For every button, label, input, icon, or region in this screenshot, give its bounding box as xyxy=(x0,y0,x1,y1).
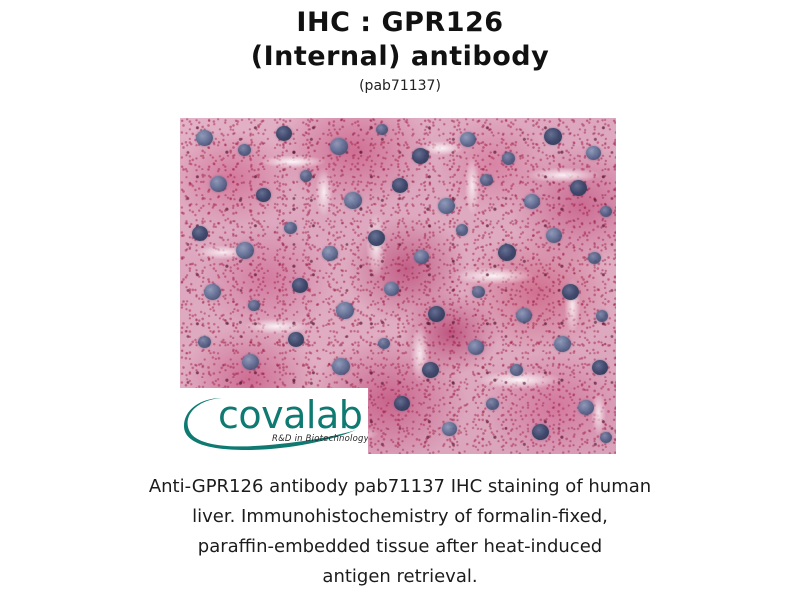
cell-nucleus xyxy=(516,308,532,323)
cell-nucleus xyxy=(368,230,385,246)
cell-nucleus xyxy=(428,306,445,322)
catalog-number: (pab71137) xyxy=(0,76,800,96)
caption-line: liver. Immunohistochemistry of formalin-… xyxy=(0,502,800,532)
cell-nucleus xyxy=(456,224,468,236)
cell-nucleus xyxy=(414,250,429,264)
covalab-logo: covalab R&D in Biotechnology xyxy=(180,388,368,454)
cell-nucleus xyxy=(284,222,297,234)
cell-nucleus xyxy=(204,284,221,300)
cell-nucleus xyxy=(288,332,304,347)
cell-nucleus xyxy=(210,176,227,192)
cell-nucleus xyxy=(198,336,211,348)
page-title-line-1: IHC : GPR126 xyxy=(0,6,800,40)
cell-nucleus xyxy=(480,174,493,186)
cell-nucleus xyxy=(472,286,485,298)
figure-title-block: IHC : GPR126 (Internal) antibody (pab711… xyxy=(0,0,800,96)
cell-nucleus xyxy=(392,178,408,193)
cell-nucleus xyxy=(486,398,499,410)
cell-nucleus xyxy=(330,138,348,155)
cell-nucleus xyxy=(592,360,608,375)
cell-nucleus xyxy=(336,302,354,319)
ihc-figure-page: { "figure": { "title_line_1": "IHC : GPR… xyxy=(0,0,800,600)
cell-nucleus xyxy=(554,336,571,352)
cell-nucleus xyxy=(600,206,612,217)
cell-nucleus xyxy=(384,282,399,296)
cell-nucleus xyxy=(578,400,594,415)
cell-nucleus xyxy=(322,246,338,261)
cell-nucleus xyxy=(248,300,260,311)
cell-nucleus xyxy=(588,252,601,264)
cell-nucleus xyxy=(412,148,429,164)
cell-nucleus xyxy=(192,226,208,241)
figure-caption: Anti-GPR126 antibody pab71137 IHC staini… xyxy=(0,472,800,592)
cell-nucleus xyxy=(422,362,439,378)
cell-nucleus xyxy=(378,338,390,349)
cell-nucleus xyxy=(596,310,608,322)
cell-nucleus xyxy=(332,358,350,375)
page-title-line-2: (Internal) antibody xyxy=(0,40,800,74)
caption-line: Anti-GPR126 antibody pab71137 IHC staini… xyxy=(0,472,800,502)
cell-nucleus xyxy=(600,432,612,443)
cell-nucleus xyxy=(532,424,549,440)
cell-nucleus xyxy=(236,242,254,259)
micrograph-image: covalab R&D in Biotechnology xyxy=(180,118,616,454)
cell-nucleus xyxy=(498,244,516,261)
cell-nucleus xyxy=(442,422,457,436)
cell-nucleus xyxy=(544,128,562,145)
caption-line: paraffin-embedded tissue after heat-indu… xyxy=(0,532,800,562)
caption-line: antigen retrieval. xyxy=(0,562,800,592)
cell-nucleus xyxy=(376,124,388,135)
cell-nucleus xyxy=(570,180,587,196)
cell-nucleus xyxy=(546,228,562,243)
cell-nucleus xyxy=(524,194,540,209)
cell-nucleus xyxy=(562,284,579,300)
cell-nucleus xyxy=(300,170,312,182)
cell-nucleus xyxy=(344,192,362,209)
cell-nucleus xyxy=(510,364,523,376)
cell-nucleus xyxy=(468,340,484,355)
cell-nucleus xyxy=(256,188,271,202)
cell-nucleus xyxy=(242,354,259,370)
cell-nucleus xyxy=(276,126,292,141)
cell-nucleus xyxy=(394,396,410,411)
cell-nucleus xyxy=(292,278,308,293)
covalab-tagline: R&D in Biotechnology xyxy=(272,434,368,444)
cell-nucleus xyxy=(502,152,515,165)
cell-nucleus xyxy=(238,144,251,156)
cell-nucleus xyxy=(586,146,601,160)
cell-nucleus xyxy=(460,132,476,147)
cell-nucleus xyxy=(196,130,213,146)
cell-nucleus xyxy=(438,198,455,214)
covalab-wordmark: covalab xyxy=(218,394,362,436)
